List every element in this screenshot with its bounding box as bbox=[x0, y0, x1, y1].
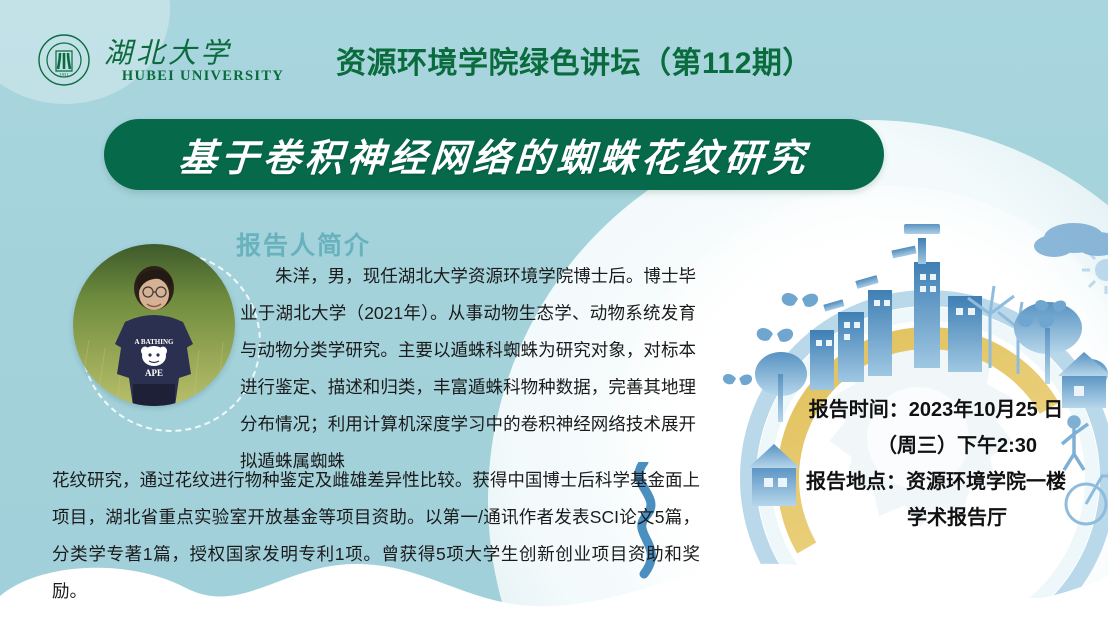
svg-text:1931: 1931 bbox=[60, 72, 69, 77]
cloud-icon bbox=[1034, 223, 1108, 257]
speaker-photo-wrapper: A BATHING APE bbox=[73, 244, 255, 426]
university-wordmark: 湖北大学 HUBEI UNIVERSITY bbox=[98, 36, 308, 85]
avatar: A BATHING APE bbox=[73, 244, 235, 406]
svg-text:湖北大学: 湖北大学 bbox=[104, 36, 232, 69]
event-time-value: 2023年10月25 日 bbox=[909, 399, 1064, 421]
event-place-row: 报告地点：资源环境学院一楼 bbox=[786, 464, 1086, 500]
event-time-label: 报告时间： bbox=[809, 399, 909, 421]
event-place-label: 报告地点： bbox=[806, 471, 906, 493]
title-banner: 基于卷积神经网络的蜘蛛花纹研究 bbox=[104, 119, 884, 190]
university-name-en: HUBEI UNIVERSITY bbox=[122, 68, 284, 85]
bio-heading: 报告人简介 bbox=[236, 226, 371, 262]
svg-text:A BATHING: A BATHING bbox=[135, 338, 175, 346]
event-place-value: 资源环境学院一楼 bbox=[906, 471, 1066, 493]
bio-paragraph-bottom: 花纹研究，通过花纹进行物种鉴定及雌雄差异性比较。获得中国博士后科学基金面上项目，… bbox=[52, 462, 700, 610]
event-info: 报告时间：2023年10月25 日 （周三）下午2:30 报告地点：资源环境学院… bbox=[786, 392, 1086, 536]
university-name-cn: 湖北大学 bbox=[98, 36, 308, 70]
page-title: 资源环境学院绿色讲坛（第112期） bbox=[336, 38, 813, 82]
event-place-row-cont: 学术报告厅 bbox=[786, 500, 1086, 536]
bio-paragraph-top: 朱洋，男，现任湖北大学资源环境学院博士后。博士毕业于湖北大学（2021年）。从事… bbox=[240, 258, 696, 480]
event-time-row: 报告时间：2023年10月25 日 bbox=[786, 392, 1086, 428]
poster-root: 1931 湖北大学 HUBEI UNIVERSITY 资源环境学院绿色讲坛（第1… bbox=[0, 0, 1108, 628]
university-seal-icon: 1931 bbox=[38, 34, 90, 86]
svg-text:APE: APE bbox=[145, 368, 163, 378]
title-banner-text: 基于卷积神经网络的蜘蛛花纹研究 bbox=[177, 127, 811, 182]
header: 1931 湖北大学 HUBEI UNIVERSITY 资源环境学院绿色讲坛（第1… bbox=[38, 34, 813, 86]
event-time-row-cont: （周三）下午2:30 bbox=[786, 428, 1086, 464]
